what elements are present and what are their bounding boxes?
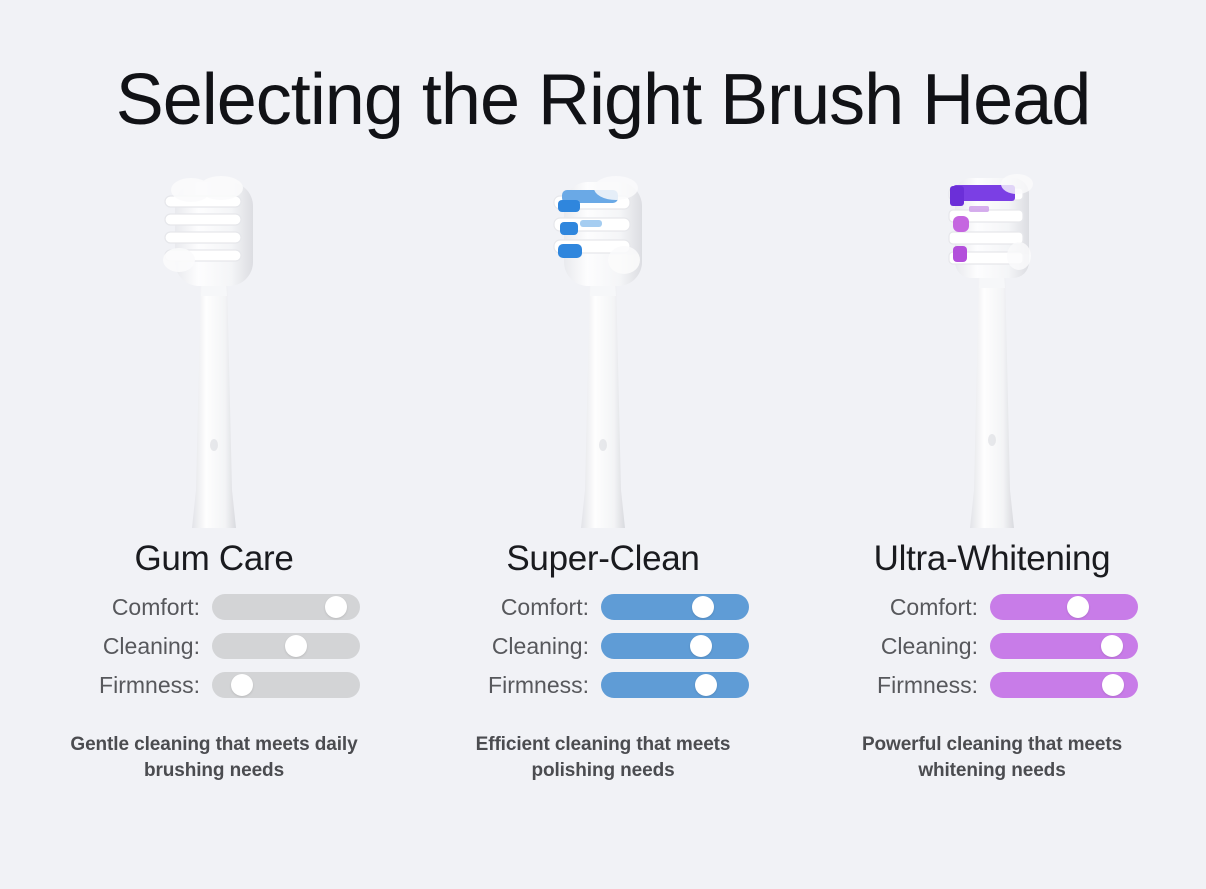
brush-head-card-ultra-whitening[interactable]: Ultra-Whitening Comfort: Cleaning: Firmn…: [800, 160, 1184, 784]
spec-label-comfort: Comfort:: [846, 594, 978, 620]
brush-head-card-super-clean[interactable]: Super-Clean Comfort: Cleaning: Firmness:: [411, 160, 795, 784]
brush-head-illustration: [917, 160, 1067, 530]
slider-knob[interactable]: [231, 674, 253, 696]
slider-knob[interactable]: [1102, 674, 1124, 696]
slider-cleaning[interactable]: [990, 633, 1138, 659]
brush-head-illustration: [528, 160, 678, 530]
slider-knob[interactable]: [285, 635, 307, 657]
slider-cleaning[interactable]: [601, 633, 749, 659]
spec-row-comfort: Comfort:: [846, 594, 1138, 620]
brush-image-gum-care: [124, 160, 304, 530]
spec-label-comfort: Comfort:: [68, 594, 200, 620]
spec-label-firmness: Firmness:: [457, 672, 589, 698]
spec-label-firmness: Firmness:: [68, 672, 200, 698]
slider-knob[interactable]: [692, 596, 714, 618]
slider-firmness[interactable]: [601, 672, 749, 698]
product-name: Ultra-Whitening: [874, 538, 1111, 580]
spec-label-comfort: Comfort:: [457, 594, 589, 620]
slider-comfort[interactable]: [990, 594, 1138, 620]
spec-label-firmness: Firmness:: [846, 672, 978, 698]
spec-label-cleaning: Cleaning:: [846, 633, 978, 659]
slider-firmness[interactable]: [212, 672, 360, 698]
spec-row-cleaning: Cleaning:: [68, 633, 360, 659]
brush-head-comparison-page: Selecting the Right Brush Head: [0, 0, 1206, 889]
spec-row-firmness: Firmness:: [846, 672, 1138, 698]
spec-label-cleaning: Cleaning:: [68, 633, 200, 659]
slider-comfort[interactable]: [601, 594, 749, 620]
product-caption: Gentle cleaning that meets daily brushin…: [49, 732, 379, 784]
product-name: Gum Care: [134, 538, 293, 580]
spec-label-cleaning: Cleaning:: [457, 633, 589, 659]
spec-list: Comfort: Cleaning: Firmness:: [457, 594, 749, 698]
brush-head-card-gum-care[interactable]: Gum Care Comfort: Cleaning: Firmness:: [22, 160, 406, 784]
spec-list: Comfort: Cleaning: Firmness:: [846, 594, 1138, 698]
brush-head-illustration: [139, 160, 289, 530]
slider-knob[interactable]: [1101, 635, 1123, 657]
slider-knob[interactable]: [325, 596, 347, 618]
brush-head-columns: Gum Care Comfort: Cleaning: Firmness:: [0, 160, 1206, 860]
spec-row-cleaning: Cleaning:: [457, 633, 749, 659]
spec-row-cleaning: Cleaning:: [846, 633, 1138, 659]
product-caption: Powerful cleaning that meets whitening n…: [827, 732, 1157, 784]
brush-image-super-clean: [513, 160, 693, 530]
slider-knob[interactable]: [695, 674, 717, 696]
spec-row-firmness: Firmness:: [457, 672, 749, 698]
slider-cleaning[interactable]: [212, 633, 360, 659]
slider-comfort[interactable]: [212, 594, 360, 620]
spec-list: Comfort: Cleaning: Firmness:: [68, 594, 360, 698]
slider-knob[interactable]: [1067, 596, 1089, 618]
slider-firmness[interactable]: [990, 672, 1138, 698]
product-name: Super-Clean: [506, 538, 699, 580]
spec-row-comfort: Comfort:: [68, 594, 360, 620]
spec-row-firmness: Firmness:: [68, 672, 360, 698]
slider-knob[interactable]: [690, 635, 712, 657]
spec-row-comfort: Comfort:: [457, 594, 749, 620]
brush-image-ultra-whitening: [902, 160, 1082, 530]
page-title: Selecting the Right Brush Head: [0, 58, 1206, 142]
product-caption: Efficient cleaning that meets polishing …: [438, 732, 768, 784]
